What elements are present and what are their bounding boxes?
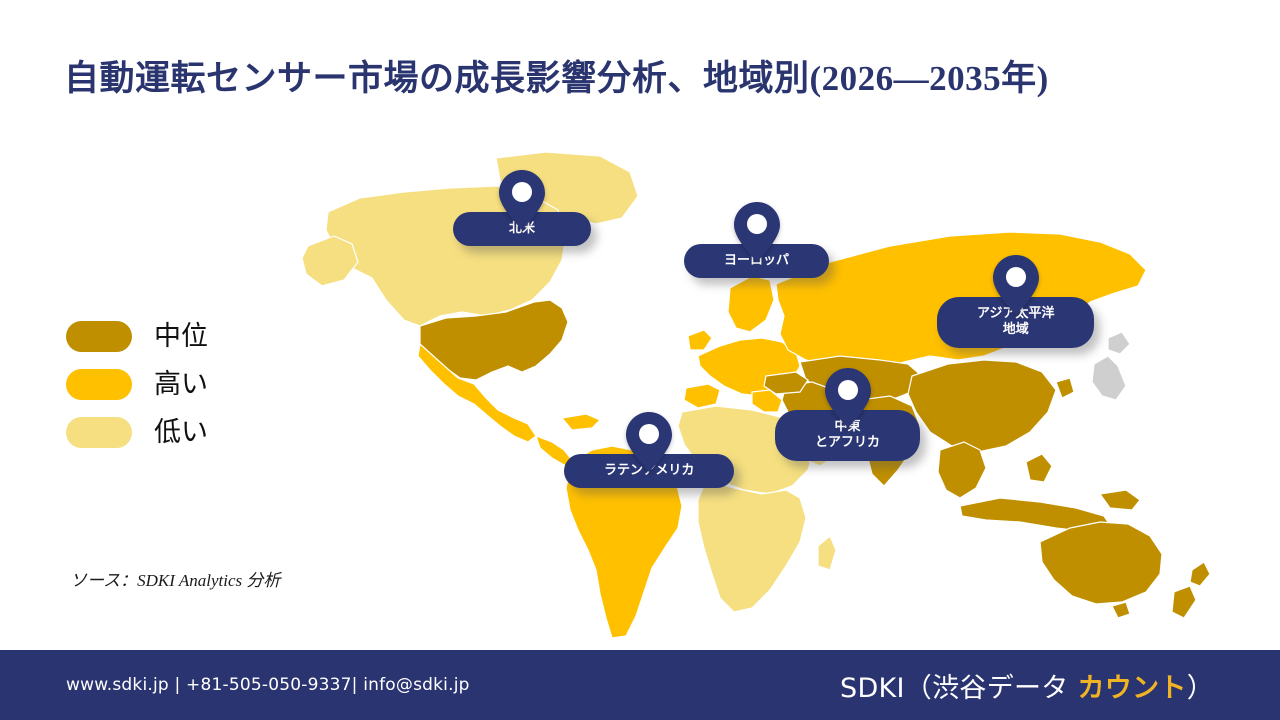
- map-region-new-zealand-south: [1172, 586, 1196, 618]
- footer-bar: www.sdki.jp | +81-505-050-9337| info@sdk…: [0, 650, 1280, 720]
- map-region-scandinavia: [728, 276, 774, 332]
- legend-label-high: 高い: [154, 371, 208, 398]
- legend-item-low: 低い: [66, 408, 316, 456]
- map-marker-middle-east-africa[interactable]: 中東 とアフリカ: [775, 368, 920, 461]
- footer-brand-tail: ）: [1187, 673, 1214, 704]
- map-pin-icon: [626, 412, 672, 472]
- legend-label-medium: 中位: [154, 323, 208, 350]
- map-pin-icon: [499, 170, 545, 230]
- footer-brand: SDKI（渋谷データ カウント）: [840, 666, 1214, 705]
- map-pin-icon: [993, 255, 1039, 315]
- map-pin-icon: [825, 368, 871, 428]
- legend-swatch-medium: [66, 321, 132, 352]
- map-region-southeast-asia: [938, 442, 986, 498]
- map-region-australia: [1040, 522, 1162, 604]
- legend: 中位 高い 低い: [66, 312, 316, 456]
- map-marker-north-america[interactable]: 北米: [453, 170, 591, 246]
- legend-item-medium: 中位: [66, 312, 316, 360]
- map-region-china: [908, 360, 1056, 452]
- legend-swatch-high: [66, 369, 132, 400]
- legend-item-high: 高い: [66, 360, 316, 408]
- footer-brand-accent: カウント: [1077, 673, 1186, 704]
- footer-contact-text: www.sdki.jp | +81-505-050-9337| info@sdk…: [66, 675, 470, 695]
- map-marker-asia-pacific[interactable]: アジア太平洋 地域: [937, 255, 1094, 348]
- world-map-container: 北米 ヨーロッパ アジア太平洋 地域 中東 とアフリカ ラテンアメリカ: [300, 150, 1240, 640]
- map-region-tasmania: [1112, 602, 1130, 618]
- map-region-madagascar: [818, 536, 836, 570]
- map-marker-europe[interactable]: ヨーロッパ: [684, 202, 829, 278]
- footer-brand-main: SDKI（渋谷データ: [840, 673, 1077, 704]
- map-pin-icon: [734, 202, 780, 262]
- map-region-british-isles: [688, 330, 712, 350]
- legend-swatch-low: [66, 417, 132, 448]
- map-region-philippines: [1026, 454, 1052, 482]
- map-region-iberia: [684, 384, 720, 408]
- source-note: ソース：SDKI Analytics 分析: [70, 566, 280, 591]
- map-region-japan: [1092, 356, 1126, 400]
- page-title: 自動運転センサー市場の成長影響分析、地域別(2026—2035年): [64, 50, 1224, 101]
- map-region-korea: [1056, 378, 1074, 398]
- map-region-sub-saharan-africa: [698, 480, 806, 612]
- map-region-alaska: [302, 236, 358, 286]
- legend-label-low: 低い: [154, 419, 208, 446]
- map-region-png: [1100, 490, 1140, 510]
- map-marker-latin-america[interactable]: ラテンアメリカ: [564, 412, 734, 488]
- map-region-new-zealand: [1190, 562, 1210, 586]
- map-region-japan-north: [1108, 332, 1130, 354]
